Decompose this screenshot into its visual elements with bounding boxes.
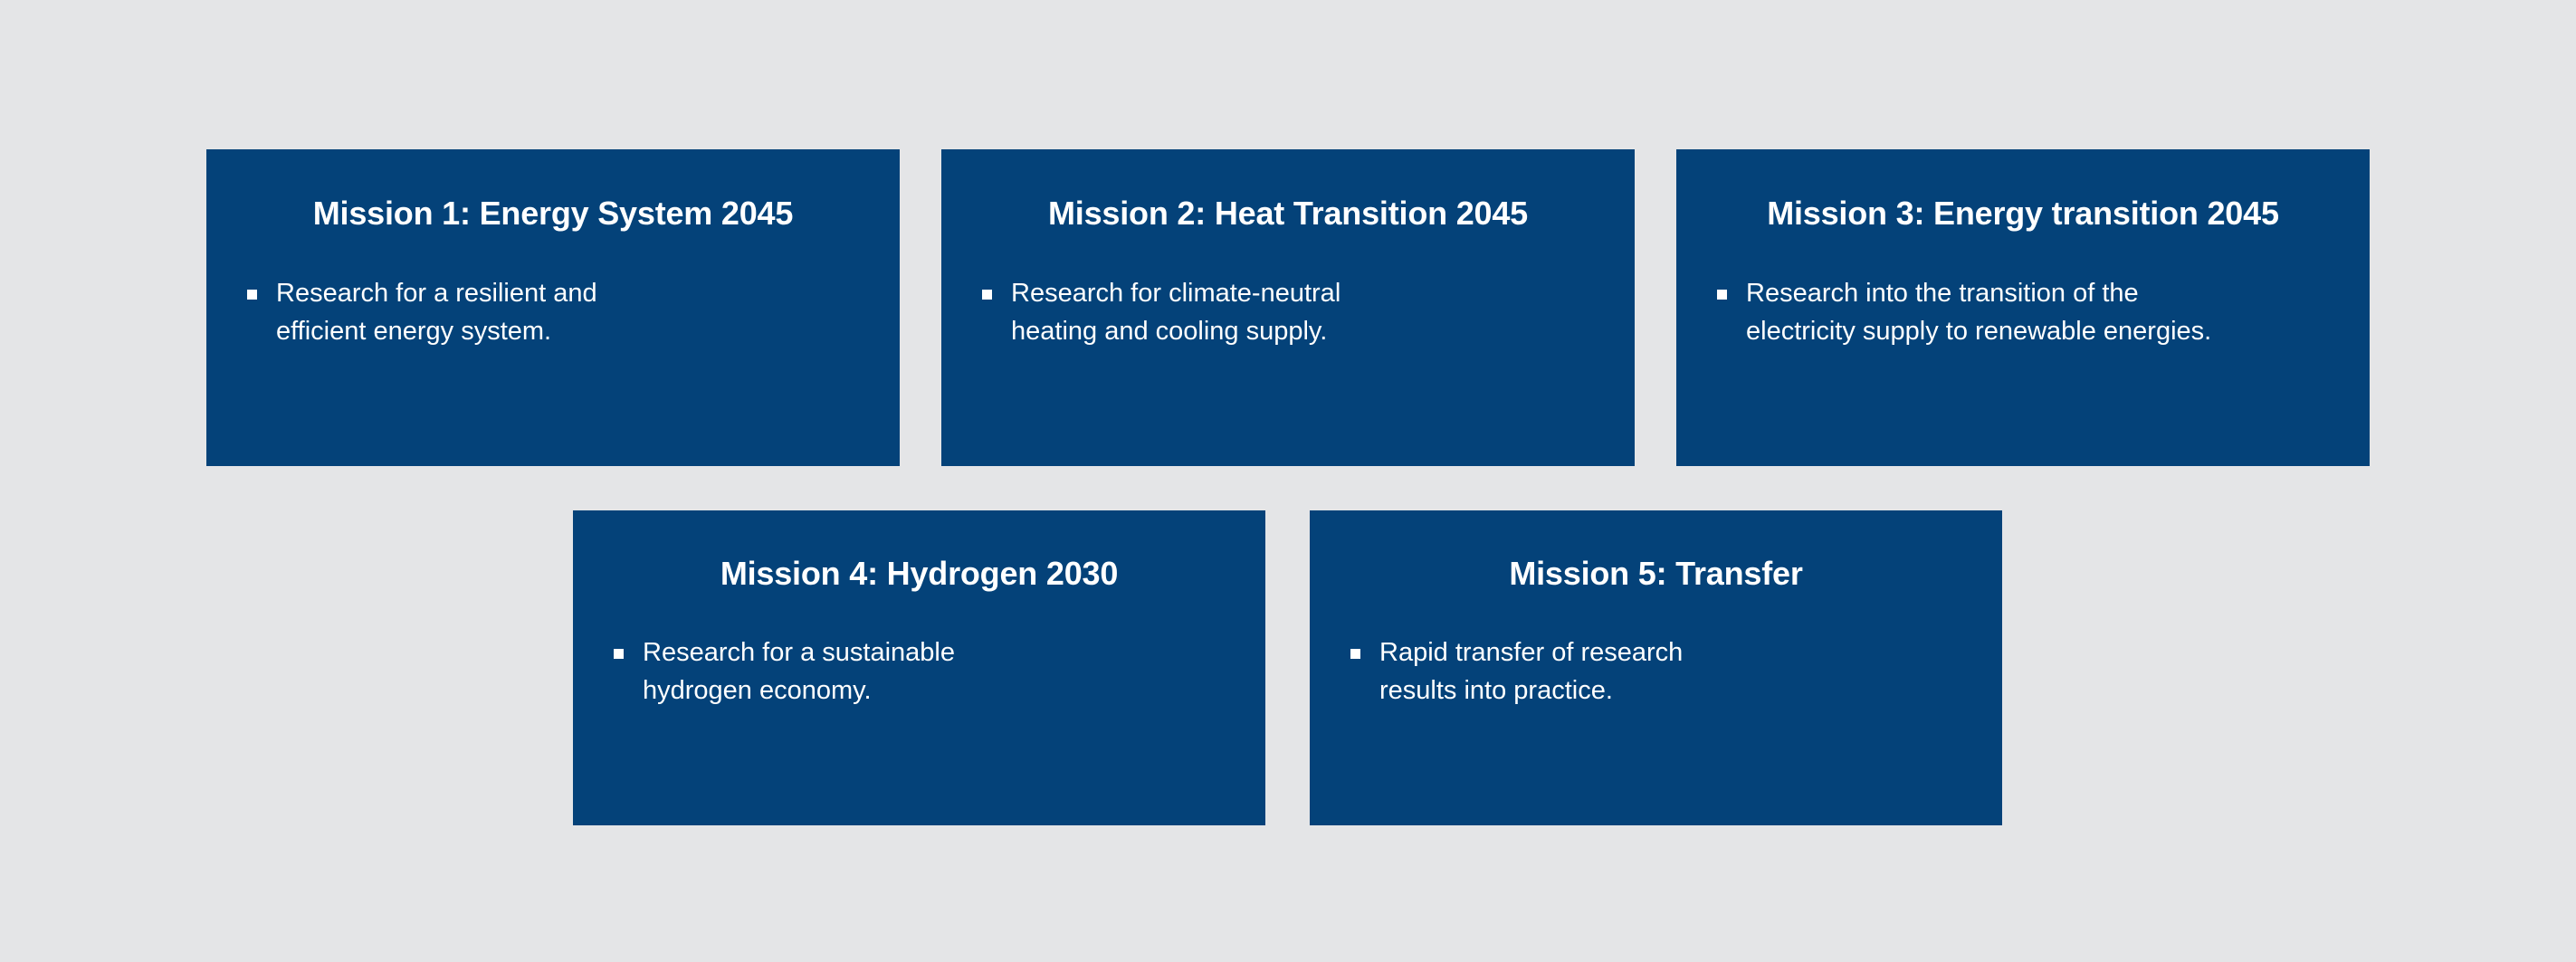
square-bullet-icon [1717, 290, 1727, 300]
mission-card-3-bullet-item: Research into the transition of the elec… [1676, 275, 2370, 349]
square-bullet-icon [1350, 649, 1360, 659]
mission-card-1-title: Mission 1: Energy System 2045 [206, 195, 900, 232]
square-bullet-icon [982, 290, 992, 300]
mission-card-1-bullet-list: Research for a resilient and efficient e… [206, 275, 900, 349]
mission-card-3-body: Research into the transition of the elec… [1746, 275, 2352, 349]
missions-board: Mission 1: Energy System 2045 Research f… [0, 0, 2576, 962]
mission-card-1-body: Research for a resilient and efficient e… [276, 275, 882, 349]
mission-card-1[interactable]: Mission 1: Energy System 2045 Research f… [206, 149, 900, 466]
mission-card-4-bullet-list: Research for a sustainable hydrogen econ… [573, 634, 1265, 709]
mission-card-4-body: Research for a sustainable hydrogen econ… [643, 634, 1247, 709]
mission-card-4[interactable]: Mission 4: Hydrogen 2030 Research for a … [573, 510, 1265, 825]
mission-card-2[interactable]: Mission 2: Heat Transition 2045 Research… [941, 149, 1635, 466]
mission-card-2-body: Research for climate-neutral heating and… [1011, 275, 1617, 349]
mission-card-5-body: Rapid transfer of research results into … [1379, 634, 1984, 709]
mission-card-3-title: Mission 3: Energy transition 2045 [1676, 195, 2370, 232]
mission-card-5-bullet-list: Rapid transfer of research results into … [1310, 634, 2002, 709]
square-bullet-icon [614, 649, 624, 659]
mission-card-4-title: Mission 4: Hydrogen 2030 [573, 555, 1265, 592]
mission-card-2-title: Mission 2: Heat Transition 2045 [941, 195, 1635, 232]
mission-card-1-bullet-item: Research for a resilient and efficient e… [206, 275, 900, 349]
mission-card-2-bullet-list: Research for climate-neutral heating and… [941, 275, 1635, 349]
mission-card-3[interactable]: Mission 3: Energy transition 2045 Resear… [1676, 149, 2370, 466]
mission-card-4-bullet-item: Research for a sustainable hydrogen econ… [573, 634, 1265, 709]
square-bullet-icon [247, 290, 257, 300]
mission-card-5-title: Mission 5: Transfer [1310, 555, 2002, 592]
mission-card-2-bullet-item: Research for climate-neutral heating and… [941, 275, 1635, 349]
mission-card-5-bullet-item: Rapid transfer of research results into … [1310, 634, 2002, 709]
mission-card-5[interactable]: Mission 5: Transfer Rapid transfer of re… [1310, 510, 2002, 825]
mission-card-3-bullet-list: Research into the transition of the elec… [1676, 275, 2370, 349]
